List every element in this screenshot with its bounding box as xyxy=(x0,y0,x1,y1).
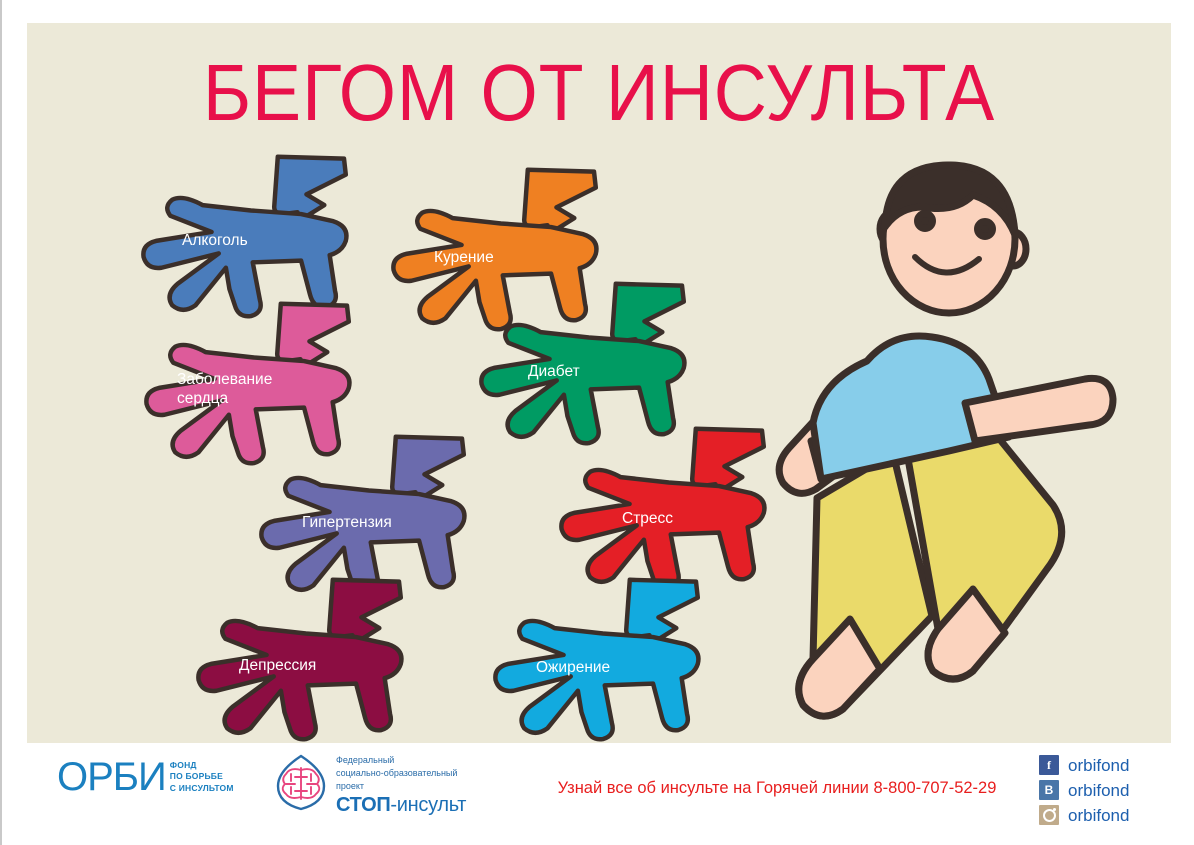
vk-icon[interactable]: B xyxy=(1039,780,1059,800)
social-link[interactable]: forbifond xyxy=(1039,753,1129,777)
social-link[interactable]: orbifond xyxy=(1039,803,1129,827)
dog-figure: Депрессия xyxy=(167,578,427,748)
stop-subtitle-line-3: проект xyxy=(336,780,466,793)
orbi-subtitle: ФОНД ПО БОРЬБЕ С ИНСУЛЬТОМ xyxy=(170,760,234,794)
dog-body xyxy=(143,198,346,316)
social-link[interactable]: Borbifond xyxy=(1039,778,1129,802)
orbi-subtitle-line-3: С ИНСУЛЬТОМ xyxy=(170,783,234,794)
hotline-text: Узнай все об инсульте на Горячей линии 8… xyxy=(497,779,1057,798)
dog-body xyxy=(495,621,698,739)
orbi-subtitle-line-2: ПО БОРЬБЕ xyxy=(170,771,234,782)
stop-insult-title: СТОП-инсульт xyxy=(336,795,466,815)
stop-subtitle-line-1: Федеральный xyxy=(336,754,466,767)
dog-figure: Ожирение xyxy=(464,578,724,748)
social-handle[interactable]: orbifond xyxy=(1068,782,1129,799)
poster-root: БЕГОМ ОТ ИНСУЛЬТА АлкогольКурениеЗаболев… xyxy=(0,0,1194,845)
poster-panel: БЕГОМ ОТ ИНСУЛЬТА АлкогольКурениеЗаболев… xyxy=(27,23,1171,743)
running-man-illustration xyxy=(717,153,1137,753)
poster-footer: ОРБИ ФОНД ПО БОРЬБЕ С ИНСУЛЬТОМ xyxy=(27,743,1171,843)
social-handle[interactable]: orbifond xyxy=(1068,757,1129,774)
social-handle[interactable]: orbifond xyxy=(1068,807,1129,824)
page-title: БЕГОМ ОТ ИНСУЛЬТА xyxy=(73,53,1125,133)
facebook-icon[interactable]: f xyxy=(1039,755,1059,775)
orbi-wordmark: ОРБИ xyxy=(57,757,166,797)
stop-insult-logo: Федеральный социально-образовательный пр… xyxy=(275,753,466,816)
dog-body xyxy=(198,621,401,739)
orbi-subtitle-line-1: ФОНД xyxy=(170,760,234,771)
runner-right-eye xyxy=(978,222,993,237)
dog-body xyxy=(481,325,684,443)
dog-figure: Алкоголь xyxy=(112,155,372,325)
stop-insult-text: Федеральный социально-образовательный пр… xyxy=(336,754,466,814)
brain-icon xyxy=(275,753,327,816)
instagram-icon[interactable] xyxy=(1039,805,1059,825)
stop-insult-subtitle: Федеральный социально-образовательный пр… xyxy=(336,754,466,792)
stop-insult-title-bold: СТОП xyxy=(336,794,390,816)
runner-left-eye xyxy=(918,214,933,229)
stop-subtitle-line-2: социально-образовательный xyxy=(336,767,466,780)
stop-insult-title-rest: -инсульт xyxy=(390,794,466,816)
orbi-logo: ОРБИ ФОНД ПО БОРЬБЕ С ИНСУЛЬТОМ xyxy=(57,757,234,797)
social-links: forbifondBorbifondorbifond xyxy=(1039,753,1129,828)
